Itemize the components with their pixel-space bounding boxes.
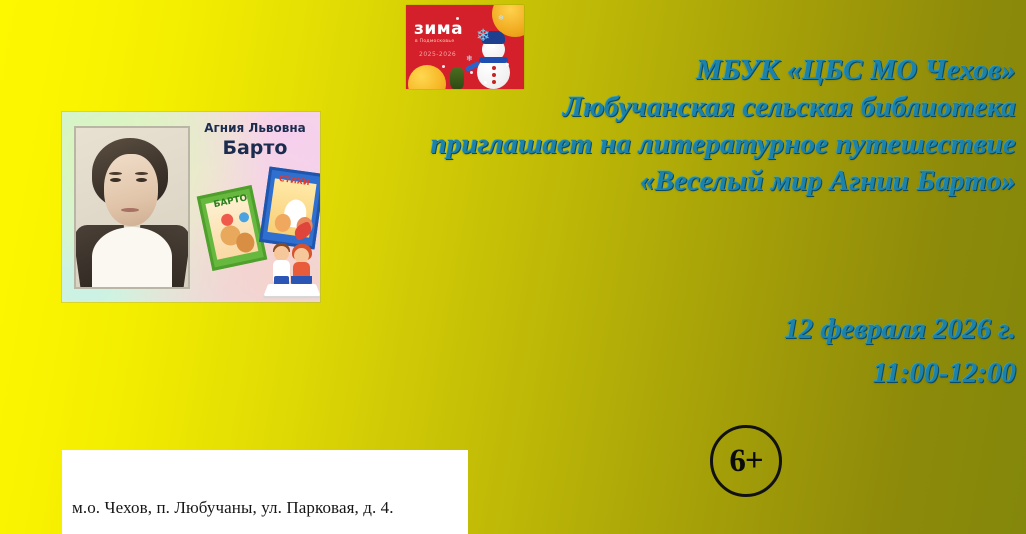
headline-line-organization: МБУК «ЦБС МО Чехов» — [300, 52, 1016, 89]
book-cover-green: БАРТО — [197, 185, 268, 271]
agniya-barto-illustration-card: Агния Львовна Барто БАРТО СТИХИ — [62, 112, 320, 302]
snow-dot-icon — [492, 45, 495, 48]
girl-head — [294, 248, 309, 263]
event-time: 11:00-12:00 — [400, 352, 1016, 396]
boy-head — [274, 246, 289, 261]
snowflake-icon: ❄ — [498, 15, 504, 22]
portrait-eye — [136, 178, 147, 182]
portrait-collar — [92, 227, 172, 287]
book-illustration-shape — [238, 211, 250, 223]
event-poster: зима в Подмосковье 2025-2026 ❄ ❄ ❄ — [0, 0, 1026, 534]
snowflake-icon: ❄ — [476, 27, 490, 44]
open-book-icon — [263, 284, 320, 296]
snow-dot-icon — [456, 17, 459, 20]
event-datetime: 12 февраля 2026 г. 11:00-12:00 — [400, 308, 1016, 395]
book-illustration-shape — [234, 231, 256, 254]
portrait-eye — [110, 178, 121, 182]
winter-banner-title: зима — [414, 21, 463, 38]
headline-line-library: Любучанская сельская библиотека — [300, 89, 1016, 126]
headline-line-invitation: приглашает на литературное путешествие — [300, 126, 1016, 163]
barto-first-middle-name: Агния Львовна — [196, 122, 314, 135]
barto-surname: Барто — [196, 138, 314, 159]
event-date: 12 февраля 2026 г. — [400, 308, 1016, 352]
portrait-mouth — [121, 208, 139, 212]
address-text: м.о. Чехов, п. Любучаны, ул. Парковая, д… — [72, 498, 394, 518]
age-rating-badge: 6+ — [710, 425, 782, 497]
children-reading-illustration — [262, 240, 320, 296]
portrait-eyebrow — [135, 172, 148, 175]
portrait-face — [104, 154, 158, 226]
portrait-eyebrow — [109, 172, 122, 175]
headline-line-event-title: «Веселый мир Агнии Барто» — [300, 163, 1016, 200]
address-plate: м.о. Чехов, п. Любучаны, ул. Парковая, д… — [62, 450, 468, 534]
poster-headline: МБУК «ЦБС МО Чехов» Любучанская сельская… — [300, 52, 1016, 200]
winter-banner-subtitle: в Подмосковье — [415, 39, 454, 44]
agniya-barto-portrait — [74, 126, 190, 289]
